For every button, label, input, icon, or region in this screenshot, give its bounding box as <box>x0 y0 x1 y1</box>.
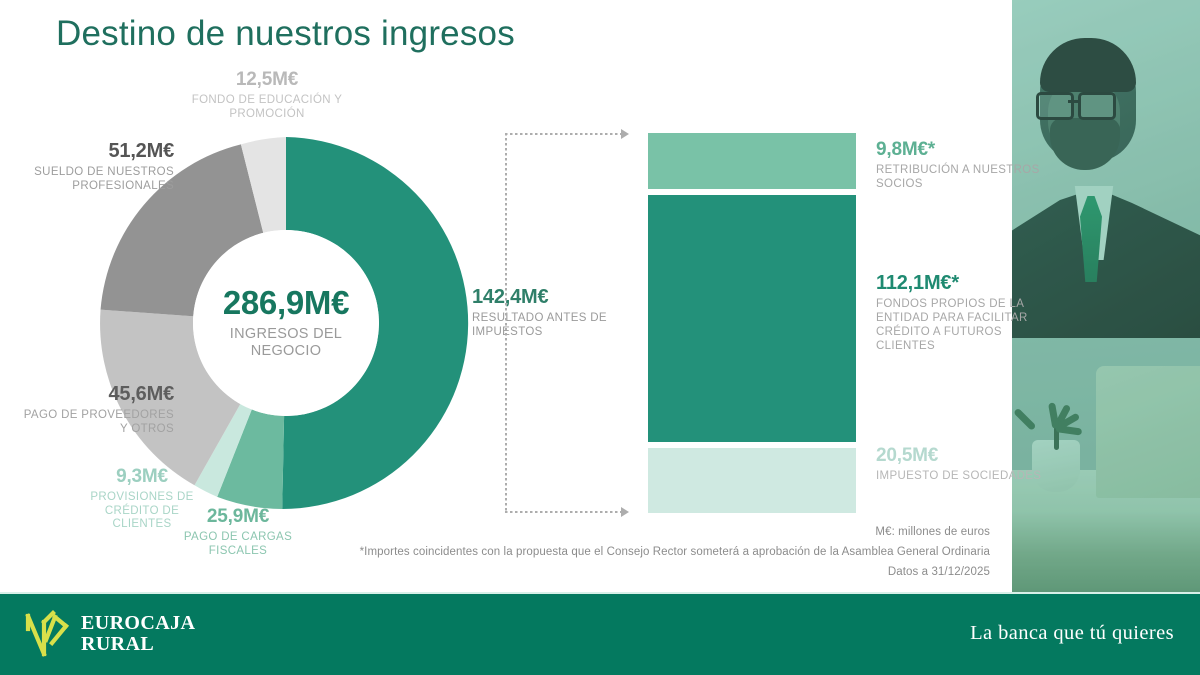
bar-0-label: RETRIBUCIÓN A NUESTROS SOCIOS <box>876 164 1056 192</box>
callout-cargas-label: PAGO DE CARGAS FISCALES <box>160 531 316 558</box>
bar-label-retribucion: 9,8M€* RETRIBUCIÓN A NUESTROS SOCIOS <box>876 139 1056 192</box>
bracket-bottom-line <box>505 511 621 513</box>
bracket-connector <box>505 133 640 513</box>
brand-wordmark: EUROCAJA RURAL <box>81 613 195 655</box>
brand-logo[interactable]: EUROCAJA RURAL <box>22 608 195 660</box>
callout-fondo-label: FONDO DE EDUCACIÓN Y PROMOCIÓN <box>172 94 362 121</box>
arrow-right-top-icon <box>621 129 629 139</box>
callout-sueldo-value: 51,2M€ <box>14 140 174 163</box>
bar-2-value: 20,5M€ <box>876 445 1056 467</box>
footnote-asterisk: *Importes coincidentes con la propuesta … <box>310 542 990 562</box>
bracket-top-line <box>505 133 621 135</box>
callout-cargas-fiscales: 25,9M€ PAGO DE CARGAS FISCALES <box>160 506 316 558</box>
callout-proveedores: 45,6M€ PAGO DE PROVEEDORES Y OTROS <box>14 383 174 436</box>
callout-fondo-educacion: 12,5M€ FONDO DE EDUCACIÓN Y PROMOCIÓN <box>172 69 362 121</box>
bar-fondos-propios[interactable] <box>648 195 856 442</box>
donut-center-label: INGRESOS DEL NEGOCIO <box>193 326 379 359</box>
wheat-sprout-icon <box>22 610 72 658</box>
footer-bar: EUROCAJA RURAL La banca que tú quieres <box>0 592 1200 675</box>
callout-provisiones-value: 9,3M€ <box>78 466 206 488</box>
slide: Destino de nuestros ingresos 286,9M€ ING… <box>0 0 1200 675</box>
footnote-date: Datos a 31/12/2025 <box>310 562 990 582</box>
bar-1-label: FONDOS PROPIOS DE LA ENTIDAD PARA FACILI… <box>876 298 1056 353</box>
arrow-right-bottom-icon <box>621 507 629 517</box>
bar-2-label: IMPUESTO DE SOCIEDADES <box>876 470 1056 484</box>
bar-1-value: 112,1M€* <box>876 272 1056 295</box>
footnotes: M€: millones de euros *Importes coincide… <box>310 522 990 582</box>
bracket-vertical-line <box>505 133 507 513</box>
callout-cargas-value: 25,9M€ <box>160 506 316 528</box>
bar-retribucion-socios[interactable] <box>648 133 856 189</box>
bar-impuesto-sociedades[interactable] <box>648 448 856 513</box>
callout-proveedores-label: PAGO DE PROVEEDORES Y OTROS <box>14 409 174 436</box>
callout-sueldo-label: SUELDO DE NUESTROS PROFESIONALES <box>14 166 174 193</box>
donut-center: 286,9M€ INGRESOS DEL NEGOCIO <box>193 230 379 416</box>
brand-line-2: RURAL <box>81 634 195 655</box>
callout-fondo-value: 12,5M€ <box>172 69 362 91</box>
bar-label-impuesto: 20,5M€ IMPUESTO DE SOCIEDADES <box>876 445 1056 484</box>
donut-center-value: 286,9M€ <box>223 286 349 319</box>
footnote-unit: M€: millones de euros <box>310 522 990 542</box>
brand-line-1: EUROCAJA <box>81 613 195 634</box>
callout-sueldo: 51,2M€ SUELDO DE NUESTROS PROFESIONALES <box>14 140 174 193</box>
bar-label-fondos-propios: 112,1M€* FONDOS PROPIOS DE LA ENTIDAD PA… <box>876 272 1056 353</box>
stacked-bar-chart <box>648 133 856 513</box>
bar-0-value: 9,8M€* <box>876 139 1056 161</box>
brand-tagline: La banca que tú quieres <box>970 592 1174 675</box>
page-title: Destino de nuestros ingresos <box>56 14 515 54</box>
callout-proveedores-value: 45,6M€ <box>14 383 174 406</box>
